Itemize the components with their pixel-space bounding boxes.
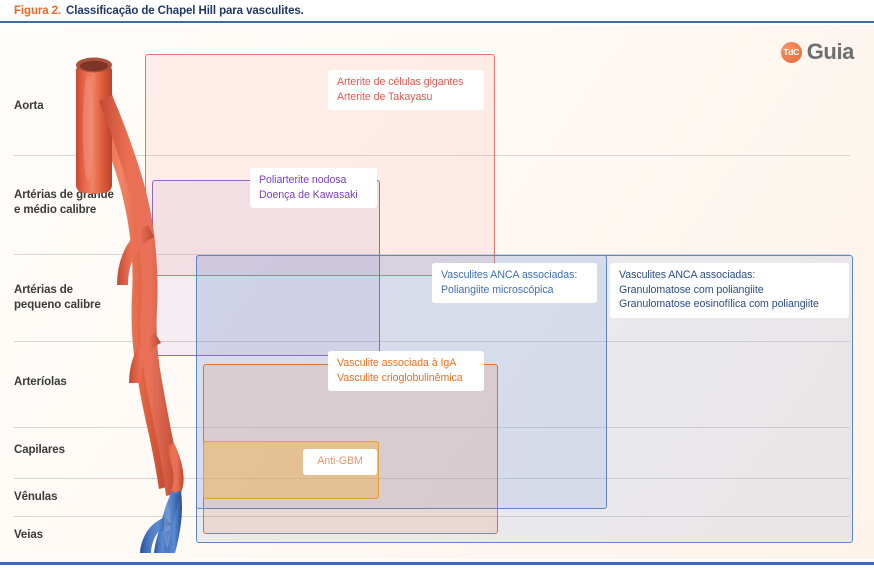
blood-vessel-illustration bbox=[55, 33, 230, 553]
tag-anca-microscopic-polyangiitis: Vasculites ANCA associadas: Poliangiite … bbox=[432, 263, 597, 303]
tag-immune-complex-vasculitis: Vasculite associada à IgA Vasculite crio… bbox=[328, 351, 484, 391]
tag-medium-vessel-vasculitis: Poliarterite nodosa Doença de Kawasaki bbox=[250, 168, 377, 208]
figure-title: Classificação de Chapel Hill para vascul… bbox=[66, 5, 304, 17]
figure-canvas: TdC Guia Aorta Artérias de grande e médi… bbox=[0, 25, 874, 559]
row-label-venules: Vênulas bbox=[14, 490, 57, 505]
row-label-veins: Veias bbox=[14, 528, 43, 543]
figure-page: Figura 2. Classificação de Chapel Hill p… bbox=[0, 0, 874, 584]
figure-number: Figura 2. bbox=[14, 5, 61, 17]
tag-large-vessel-vasculitis: Arterite de células gigantes Arterite de… bbox=[328, 70, 484, 110]
tag-anca-granulomatosis: Vasculites ANCA associadas: Granulomatos… bbox=[610, 263, 849, 318]
figure-caption-bar: Figura 2. Classificação de Chapel Hill p… bbox=[0, 0, 874, 23]
tag-anti-gbm-disease: Anti-GBM bbox=[303, 449, 377, 475]
figure-bottom-rule bbox=[0, 562, 874, 565]
row-label-aorta: Aorta bbox=[14, 99, 44, 114]
